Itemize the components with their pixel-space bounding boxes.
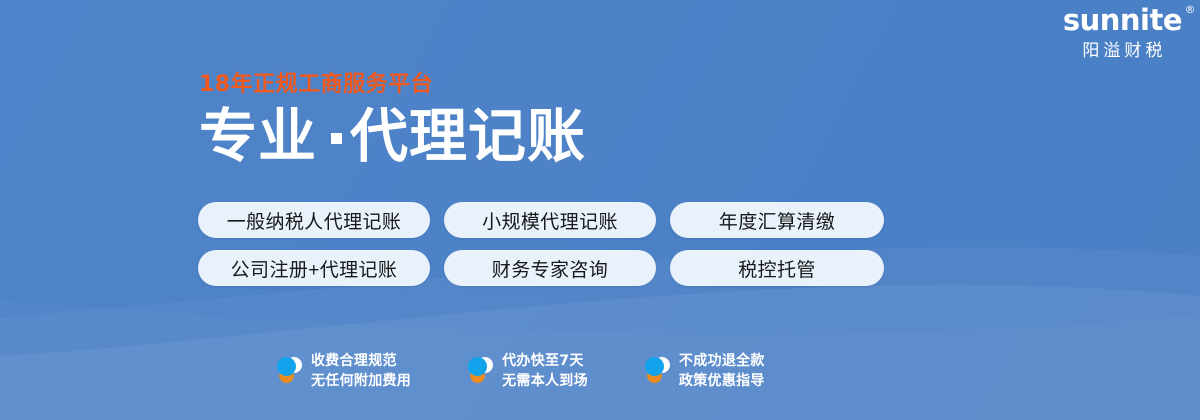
service-pill-label: 年度汇算清缴: [719, 207, 835, 234]
feature-strip: 收费合理规范 无任何附加费用 代办快至7天 无需本人到场 不成功退全款: [276, 351, 765, 392]
feature-text: 代办快至7天 无需本人到场: [502, 351, 588, 392]
circle-drop-icon: [276, 356, 302, 386]
feature-line-2: 无任何附加费用: [311, 371, 411, 391]
service-pill-general-taxpayer[interactable]: 一般纳税人代理记账: [198, 202, 430, 238]
promo-banner: sunnite ® 阳溢财税 18年正规工商服务平台 专业代理记账 一般纳税人代…: [0, 0, 1200, 420]
service-pill-label: 小规模代理记账: [482, 207, 618, 234]
service-pill-annual-settlement[interactable]: 年度汇算清缴: [670, 202, 884, 238]
service-pill-label: 公司注册+代理记账: [231, 255, 398, 282]
registered-trademark-icon: ®: [1185, 4, 1196, 15]
service-pill-tax-control-hosting[interactable]: 税控托管: [670, 250, 884, 286]
feature-item-guarantee: 不成功退全款 政策优惠指导: [644, 351, 765, 392]
service-pill-label: 税控托管: [738, 255, 816, 282]
brand-wordmark-text: sunnite: [1063, 3, 1182, 37]
circle-drop-icon: [644, 356, 670, 386]
title-left: 专业: [199, 104, 317, 169]
circle-drop-icon: [467, 356, 493, 386]
title-separator-dot: [331, 133, 342, 144]
headline-block: 18年正规工商服务平台 专业代理记账: [199, 74, 586, 166]
service-pill-financial-consulting[interactable]: 财务专家咨询: [444, 250, 656, 286]
feature-line-2: 政策优惠指导: [679, 371, 765, 391]
brand-wordmark: sunnite ®: [1063, 6, 1182, 35]
service-pill-label: 财务专家咨询: [492, 255, 608, 282]
service-pill-company-registration[interactable]: 公司注册+代理记账: [198, 250, 430, 286]
brand-logo: sunnite ® 阳溢财税: [1063, 6, 1182, 59]
feature-line-1: 代办快至7天: [502, 351, 588, 371]
feature-text: 收费合理规范 无任何附加费用: [311, 351, 411, 392]
feature-text: 不成功退全款 政策优惠指导: [679, 351, 765, 392]
feature-line-2: 无需本人到场: [502, 371, 588, 391]
feature-line-1: 不成功退全款: [679, 351, 765, 371]
service-pill-small-scale[interactable]: 小规模代理记账: [444, 202, 656, 238]
feature-item-speed: 代办快至7天 无需本人到场: [467, 351, 588, 392]
service-pill-grid: 一般纳税人代理记账 小规模代理记账 年度汇算清缴 公司注册+代理记账 财务专家咨…: [198, 202, 884, 286]
service-pill-label: 一般纳税人代理记账: [227, 207, 402, 234]
eyebrow-text: 18年正规工商服务平台: [199, 74, 586, 96]
title-right: 代理记账: [350, 104, 586, 169]
feature-item-pricing: 收费合理规范 无任何附加费用: [276, 351, 411, 392]
feature-line-1: 收费合理规范: [311, 351, 411, 371]
page-title: 专业代理记账: [199, 108, 586, 166]
brand-name-cn: 阳溢财税: [1063, 42, 1182, 59]
